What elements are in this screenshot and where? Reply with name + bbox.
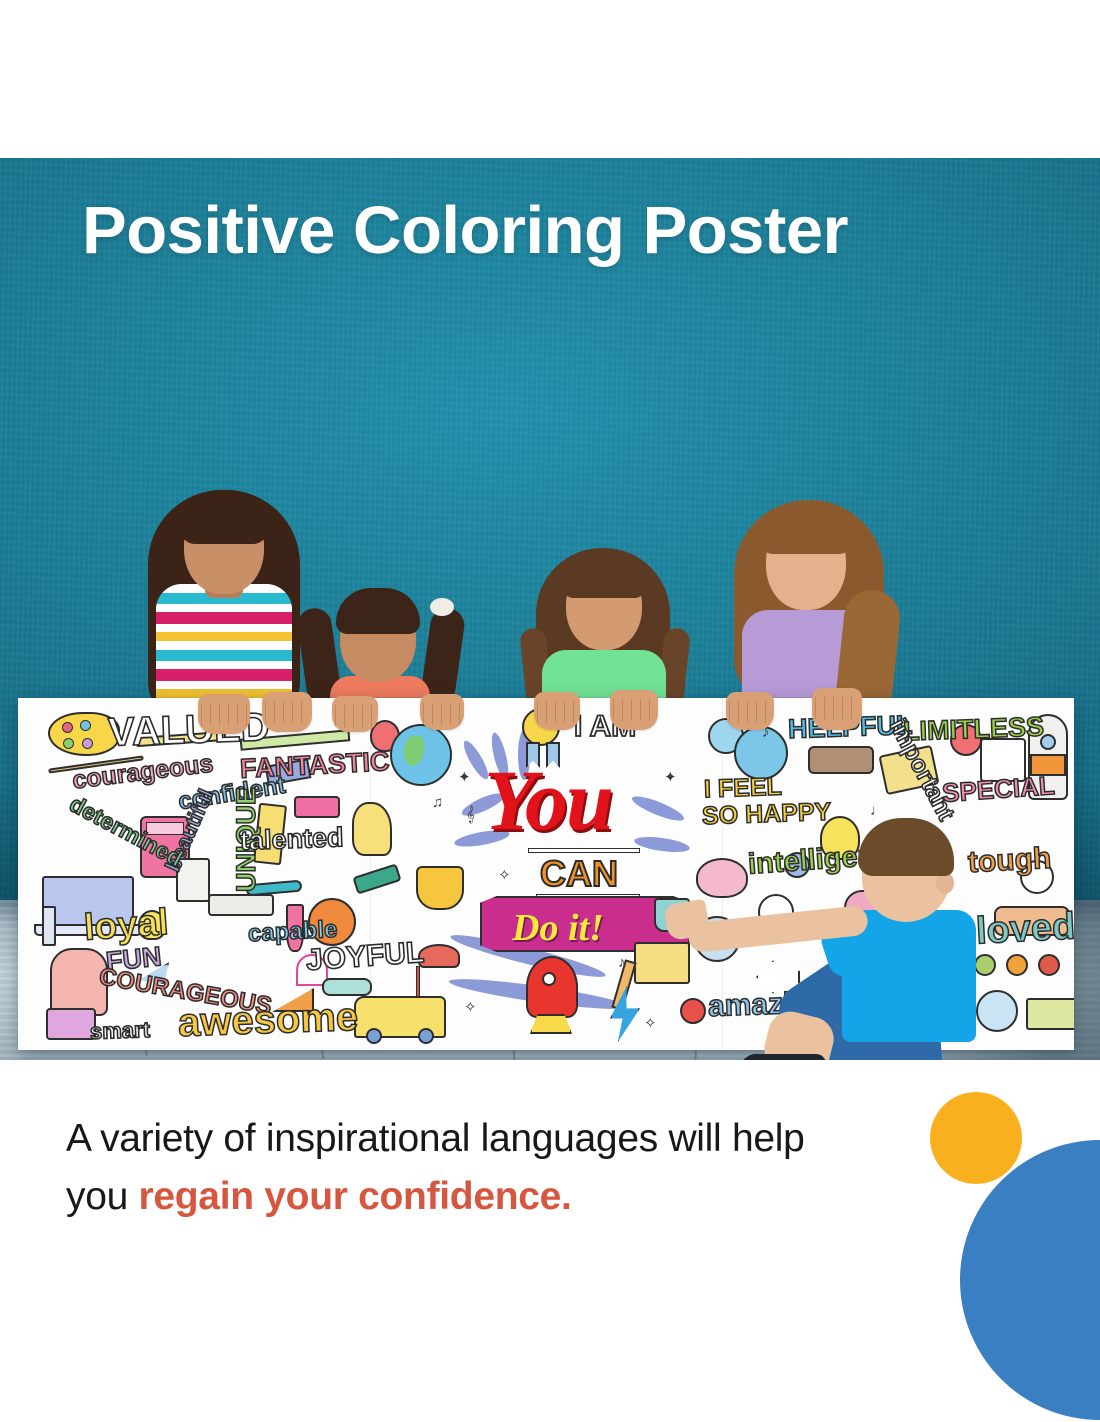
sparkle-icon: ✧	[498, 866, 511, 884]
child-girl-striped-shirt	[120, 480, 330, 720]
watercolor-set-icon	[208, 894, 274, 916]
hero-product-photo: I AM You CAN Do it! ✦ ✦ ✧ ✧ ♪ 𝄞 ♫	[0, 158, 1100, 1060]
music-note-icon: ♫	[432, 794, 443, 811]
music-note-icon: ♪	[762, 724, 770, 741]
people-dot	[1006, 954, 1028, 976]
poster-word: talented	[240, 824, 344, 855]
burst-ray	[630, 792, 687, 825]
money-icon	[1026, 998, 1074, 1030]
sneaker	[740, 1054, 826, 1060]
palette-paint-blob	[63, 738, 74, 749]
id-badge-icon	[46, 1008, 96, 1040]
first-aid-icon	[680, 998, 706, 1024]
binoculars-icon	[808, 746, 874, 774]
hair-top	[336, 588, 420, 634]
poster-word: I FEEL	[704, 775, 783, 803]
burst-ray	[633, 834, 690, 855]
poster-word: awesome	[177, 997, 358, 1043]
sparkle-icon: ✧	[644, 1014, 657, 1032]
poster-text-do-it: Do it!	[512, 906, 604, 950]
music-note-icon: ♩	[870, 802, 885, 819]
poster-word: VALUED	[107, 707, 270, 753]
sparkle-icon: ✦	[664, 768, 677, 786]
caption-text: A variety of inspirational languages wil…	[66, 1110, 866, 1225]
child-girl-lavender-shirt	[700, 494, 910, 726]
treble-clef-icon: 𝄞	[466, 806, 475, 823]
poster-text-i-am: I AM	[574, 712, 636, 742]
poster-text-can: CAN	[540, 856, 618, 892]
bus-wheel	[418, 1028, 434, 1044]
page-title: Positive Coloring Poster	[82, 196, 848, 266]
palette-paint-blob	[82, 738, 93, 749]
rocket-icon	[526, 956, 578, 1018]
poster-word: smart	[90, 1019, 151, 1043]
hair	[858, 818, 954, 876]
sparkle-icon: ✧	[464, 998, 477, 1016]
rocket-window	[542, 972, 556, 986]
child-boy-cyan-shirt	[770, 818, 1000, 1060]
trophy-icon	[416, 866, 464, 910]
microscope-icon	[42, 906, 56, 946]
calendar-icon	[634, 942, 690, 984]
award-ribbon-icon	[522, 708, 560, 746]
poster-word: LIMITLESS	[903, 714, 1045, 746]
bus-wheel	[366, 1028, 382, 1044]
hair-bow	[430, 598, 454, 616]
top-white-band	[0, 0, 1100, 158]
can-rule-top	[528, 848, 640, 853]
caption-highlight-text: regain your confidence.	[139, 1175, 572, 1218]
sunglasses-icon	[322, 978, 372, 996]
orange-circle-decoration	[930, 1092, 1022, 1184]
poster-word: loyal	[83, 903, 170, 946]
poster-text-you: You	[484, 750, 612, 850]
people-dot	[1038, 954, 1060, 976]
palette-paint-blob	[62, 722, 73, 733]
palette-paint-blob	[80, 720, 91, 731]
banana-icon	[352, 802, 392, 856]
sparkle-icon: ✦	[458, 768, 471, 786]
scissors-icon	[352, 863, 401, 894]
stapler-icon	[294, 796, 340, 818]
poster-word: SPECIAL	[941, 772, 1055, 806]
poster-word: JOYFUL	[305, 938, 425, 976]
child-girl-mint-shirt	[510, 542, 700, 724]
brain-icon	[696, 858, 748, 898]
